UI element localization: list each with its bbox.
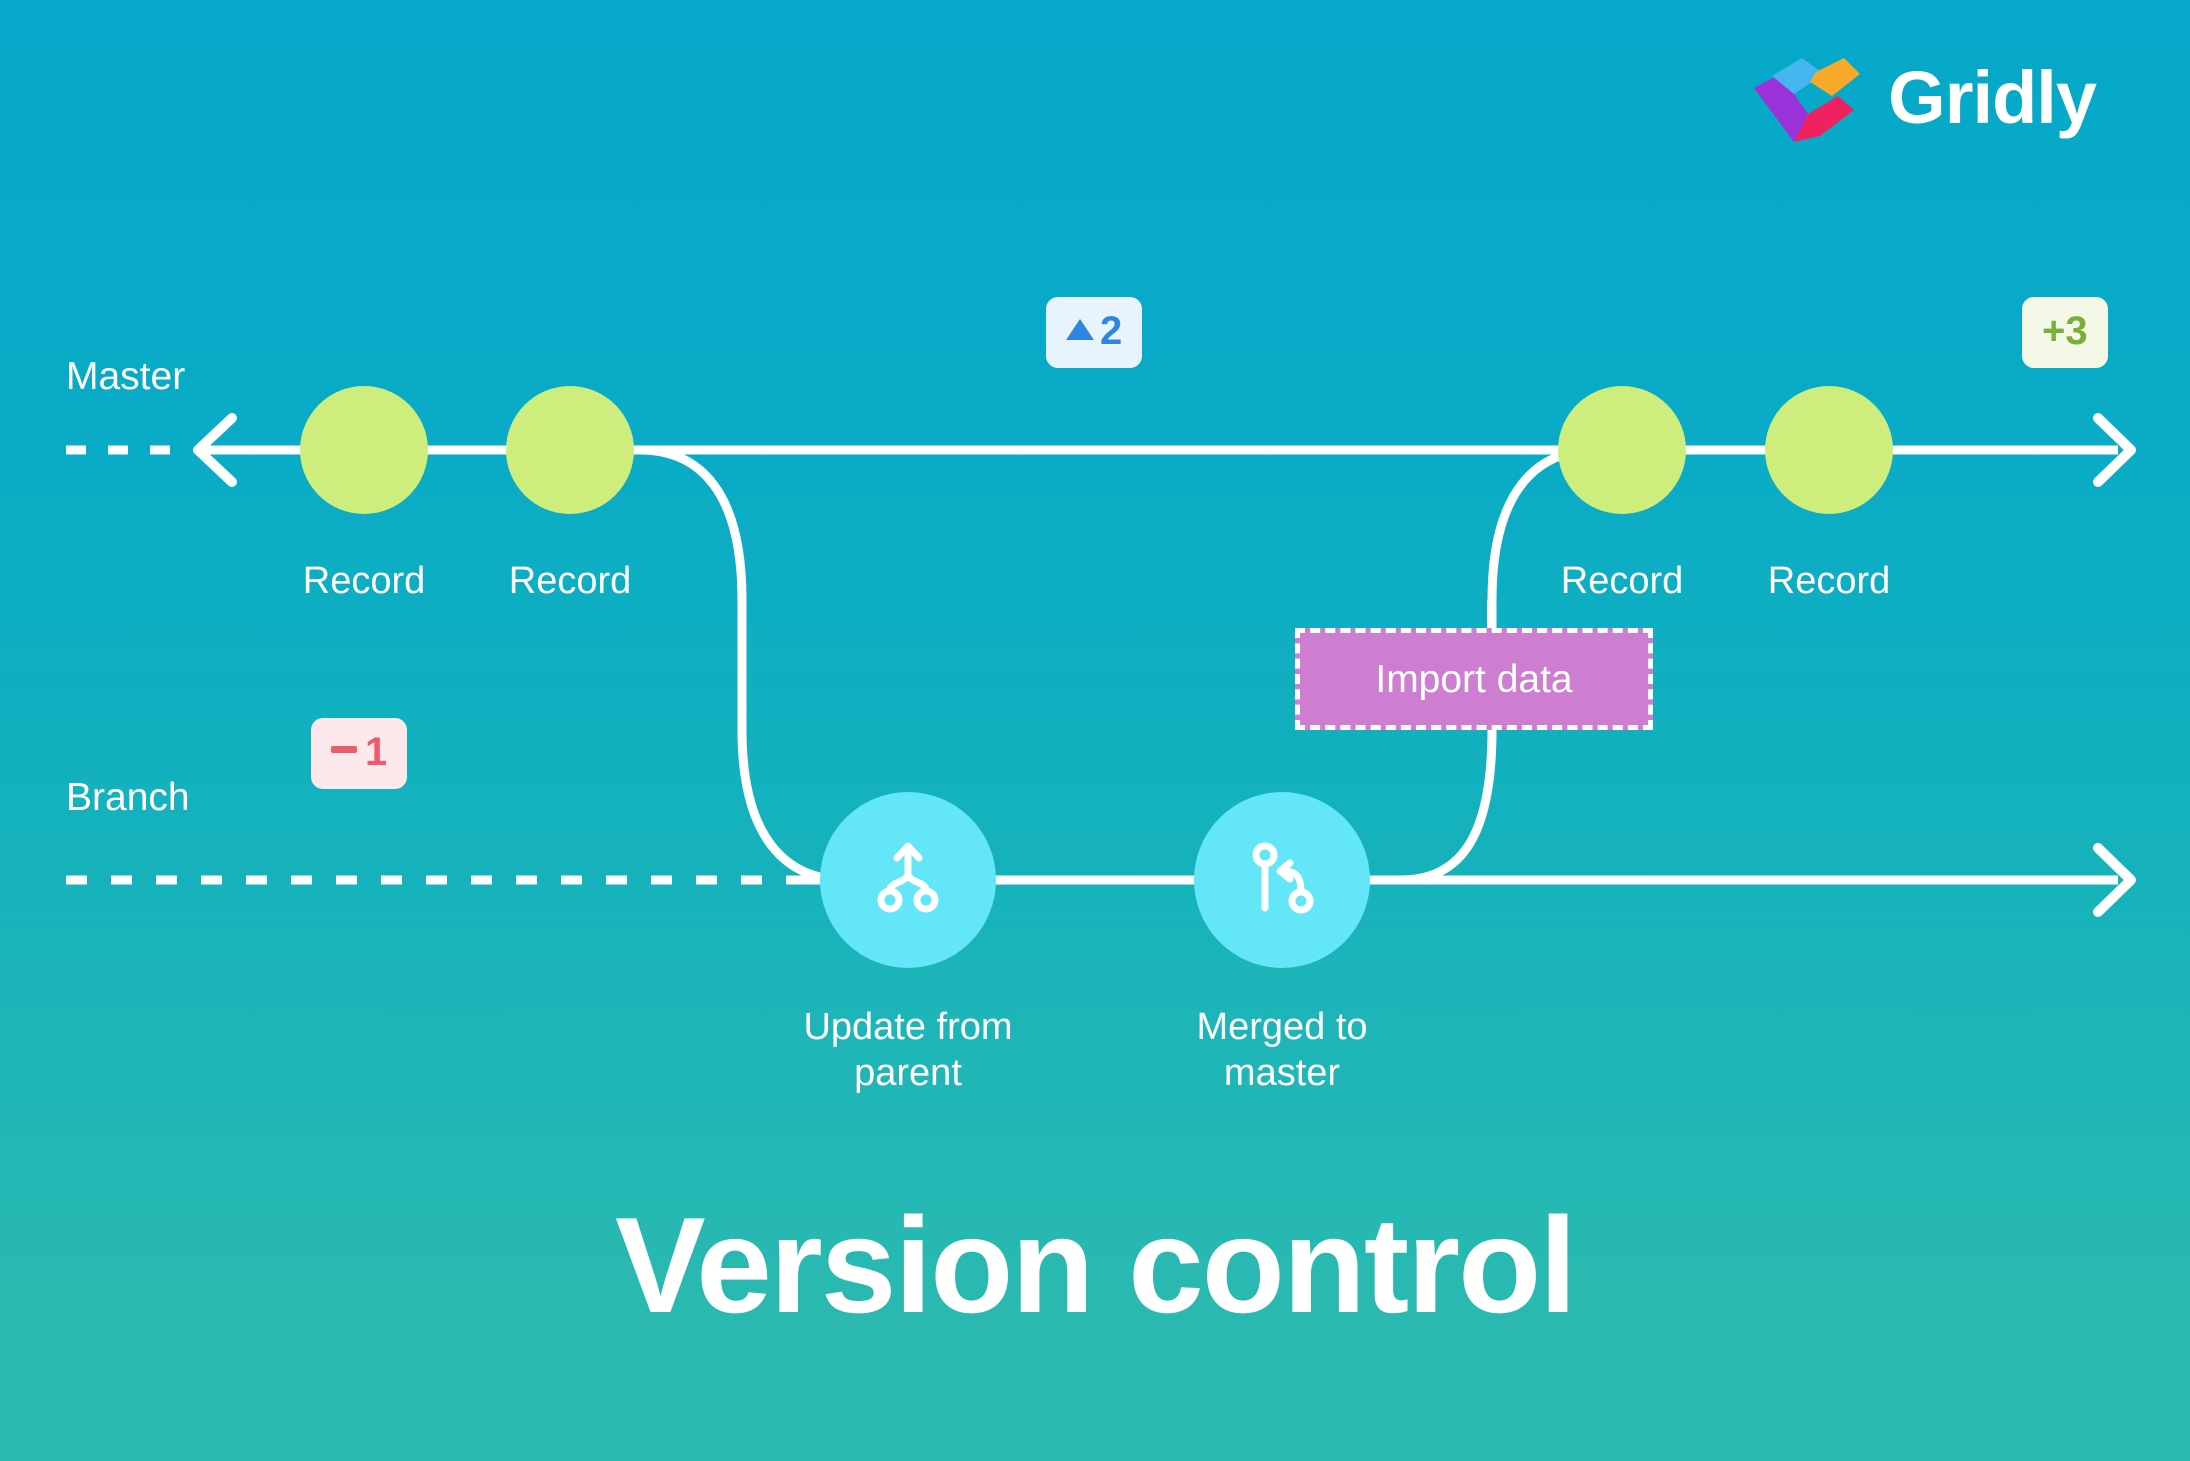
status-badge-added[interactable]: +3 [2022, 297, 2108, 368]
import-data-connector-stem [1487, 600, 1494, 630]
triangle-up-icon [1066, 319, 1094, 340]
master-record-node-2[interactable] [506, 386, 634, 514]
page-title: Version control [0, 1197, 2190, 1333]
badge-delta-value: 2 [1100, 311, 1122, 351]
master-record-caption-1: Record [244, 558, 484, 604]
master-record-caption-4: Record [1709, 558, 1949, 604]
master-record-caption-3: Record [1502, 558, 1742, 604]
branch-caption-merged-to-master: Merged to master [1132, 1004, 1432, 1097]
status-badge-removed[interactable]: 1 [311, 718, 407, 789]
branch-caption-update-from-parent: Update from parent [758, 1004, 1058, 1097]
master-record-node-1[interactable] [300, 386, 428, 514]
master-record-caption-2: Record [450, 558, 690, 604]
master-record-node-4[interactable] [1765, 386, 1893, 514]
badge-plus-value: +3 [2042, 311, 2088, 351]
branch-node-update-from-parent[interactable] [820, 792, 996, 968]
minus-icon [331, 746, 357, 753]
branch-node-merged-to-master[interactable] [1194, 792, 1370, 968]
master-record-node-3[interactable] [1558, 386, 1686, 514]
branch-update-from-parent-icon [872, 838, 944, 923]
git-merge-to-master-icon [1246, 838, 1318, 923]
import-data-annotation[interactable]: Import data [1295, 628, 1653, 730]
fork-curve-master-to-branch [640, 450, 846, 880]
import-data-label: Import data [1375, 660, 1572, 699]
diagram-canvas: Gridly Master Branch Record Record Recor… [0, 0, 2190, 1461]
badge-minus-value: 1 [365, 732, 387, 772]
status-badge-delta[interactable]: 2 [1046, 297, 1142, 368]
